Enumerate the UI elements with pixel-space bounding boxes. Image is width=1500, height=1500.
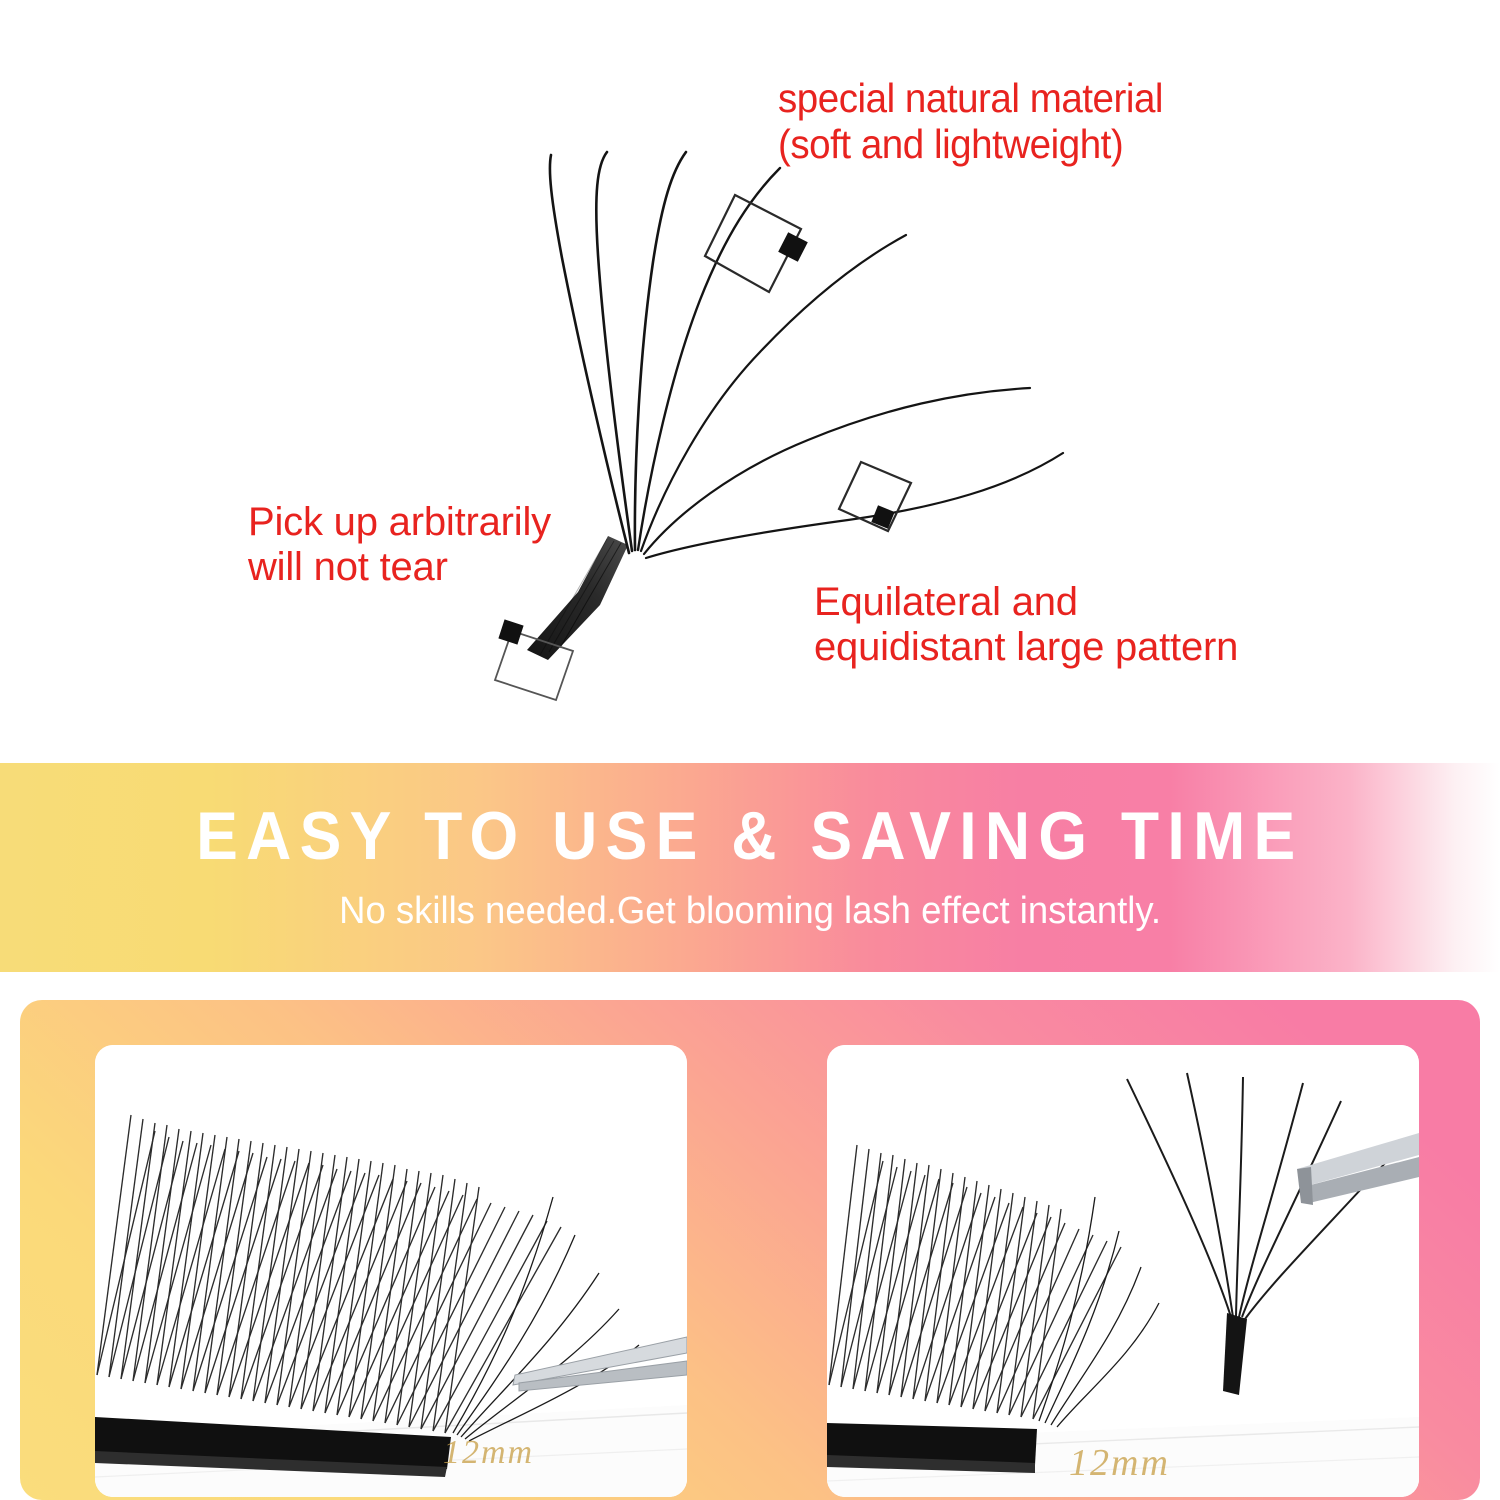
- top-diagram-section: special natural material (soft and light…: [0, 0, 1500, 763]
- callout-marker-upper: [705, 195, 808, 292]
- bottom-photo-section: 12mm: [0, 972, 1500, 1500]
- svg-text:12mm: 12mm: [1069, 1442, 1170, 1484]
- callout-equilateral-equidistant: Equilateral and equidistant large patter…: [814, 580, 1238, 670]
- photo-card-fan-pickup: 12mm: [827, 1045, 1419, 1497]
- lash-strands: [550, 152, 1063, 558]
- lash-fan-diagram: [0, 0, 1500, 763]
- tray-size-text: 12mm: [443, 1434, 534, 1471]
- callout-pick-up-arbitrarily: Pick up arbitrarily will not tear: [248, 500, 551, 590]
- photo-card-lash-tray-tweezers: 12mm: [95, 1045, 687, 1497]
- photo-lash-tray-tweezers: 12mm: [95, 1045, 687, 1497]
- photo-fan-pickup: 12mm: [827, 1045, 1419, 1497]
- callout-special-natural-material: special natural material (soft and light…: [778, 76, 1163, 168]
- gradient-photo-frame: 12mm: [20, 1000, 1480, 1500]
- banner-headline: EASY TO USE & SAVING TIME: [196, 802, 1303, 870]
- svg-text:12mm: 12mm: [443, 1434, 534, 1471]
- tray-size-text: 12mm: [1069, 1442, 1170, 1484]
- feature-banner: EASY TO USE & SAVING TIME No skills need…: [0, 763, 1500, 972]
- banner-subline: No skills needed.Get blooming lash effec…: [339, 890, 1161, 933]
